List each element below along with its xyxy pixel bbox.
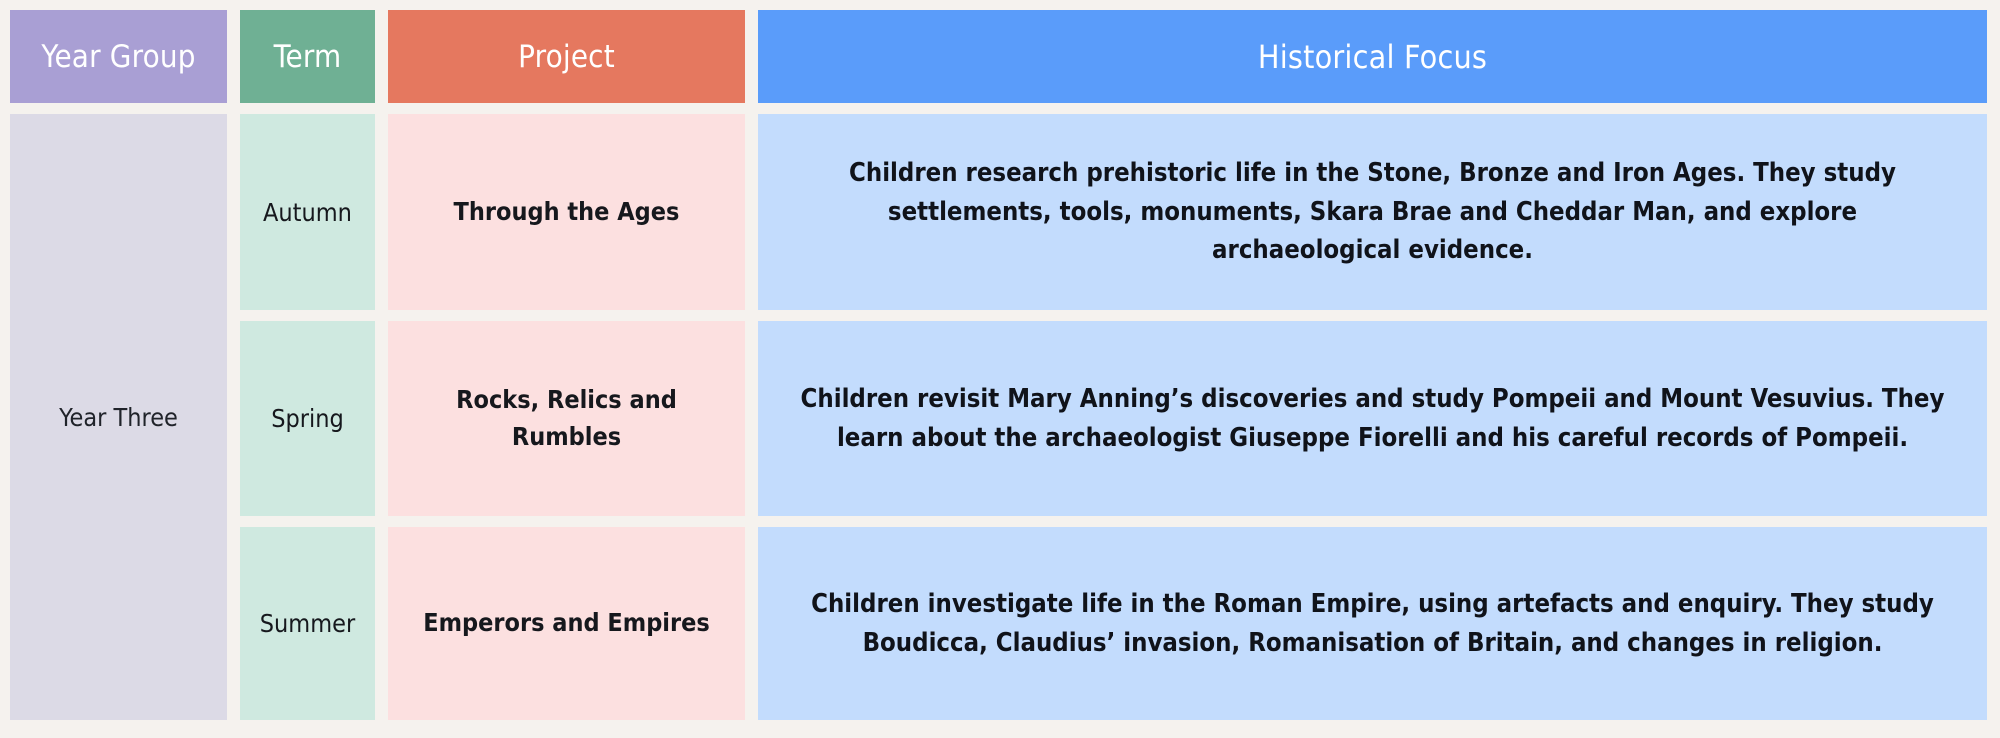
column-header-term: Term: [240, 10, 375, 103]
table-row-focus: Children investigate life in the Roman E…: [758, 527, 1987, 720]
table-row-term: Autumn: [240, 114, 375, 310]
table-row-term: Spring: [240, 321, 375, 516]
table-row-focus: Children research prehistoric life in th…: [758, 114, 1987, 310]
table-row-project: Emperors and Empires: [388, 527, 745, 720]
curriculum-overview-table: Year Group Term Project Historical Focus…: [10, 10, 1988, 725]
table-row-project: Through the Ages: [388, 114, 745, 310]
column-header-project: Project: [388, 10, 745, 103]
column-header-historical-focus: Historical Focus: [758, 10, 1987, 103]
table-row-focus: Children revisit Mary Anning’s discoveri…: [758, 321, 1987, 516]
table-row-term: Summer: [240, 527, 375, 720]
table-row-project: Rocks, Relics and Rumbles: [388, 321, 745, 516]
column-header-year-group: Year Group: [10, 10, 227, 103]
year-group-cell: Year Three: [10, 114, 227, 720]
